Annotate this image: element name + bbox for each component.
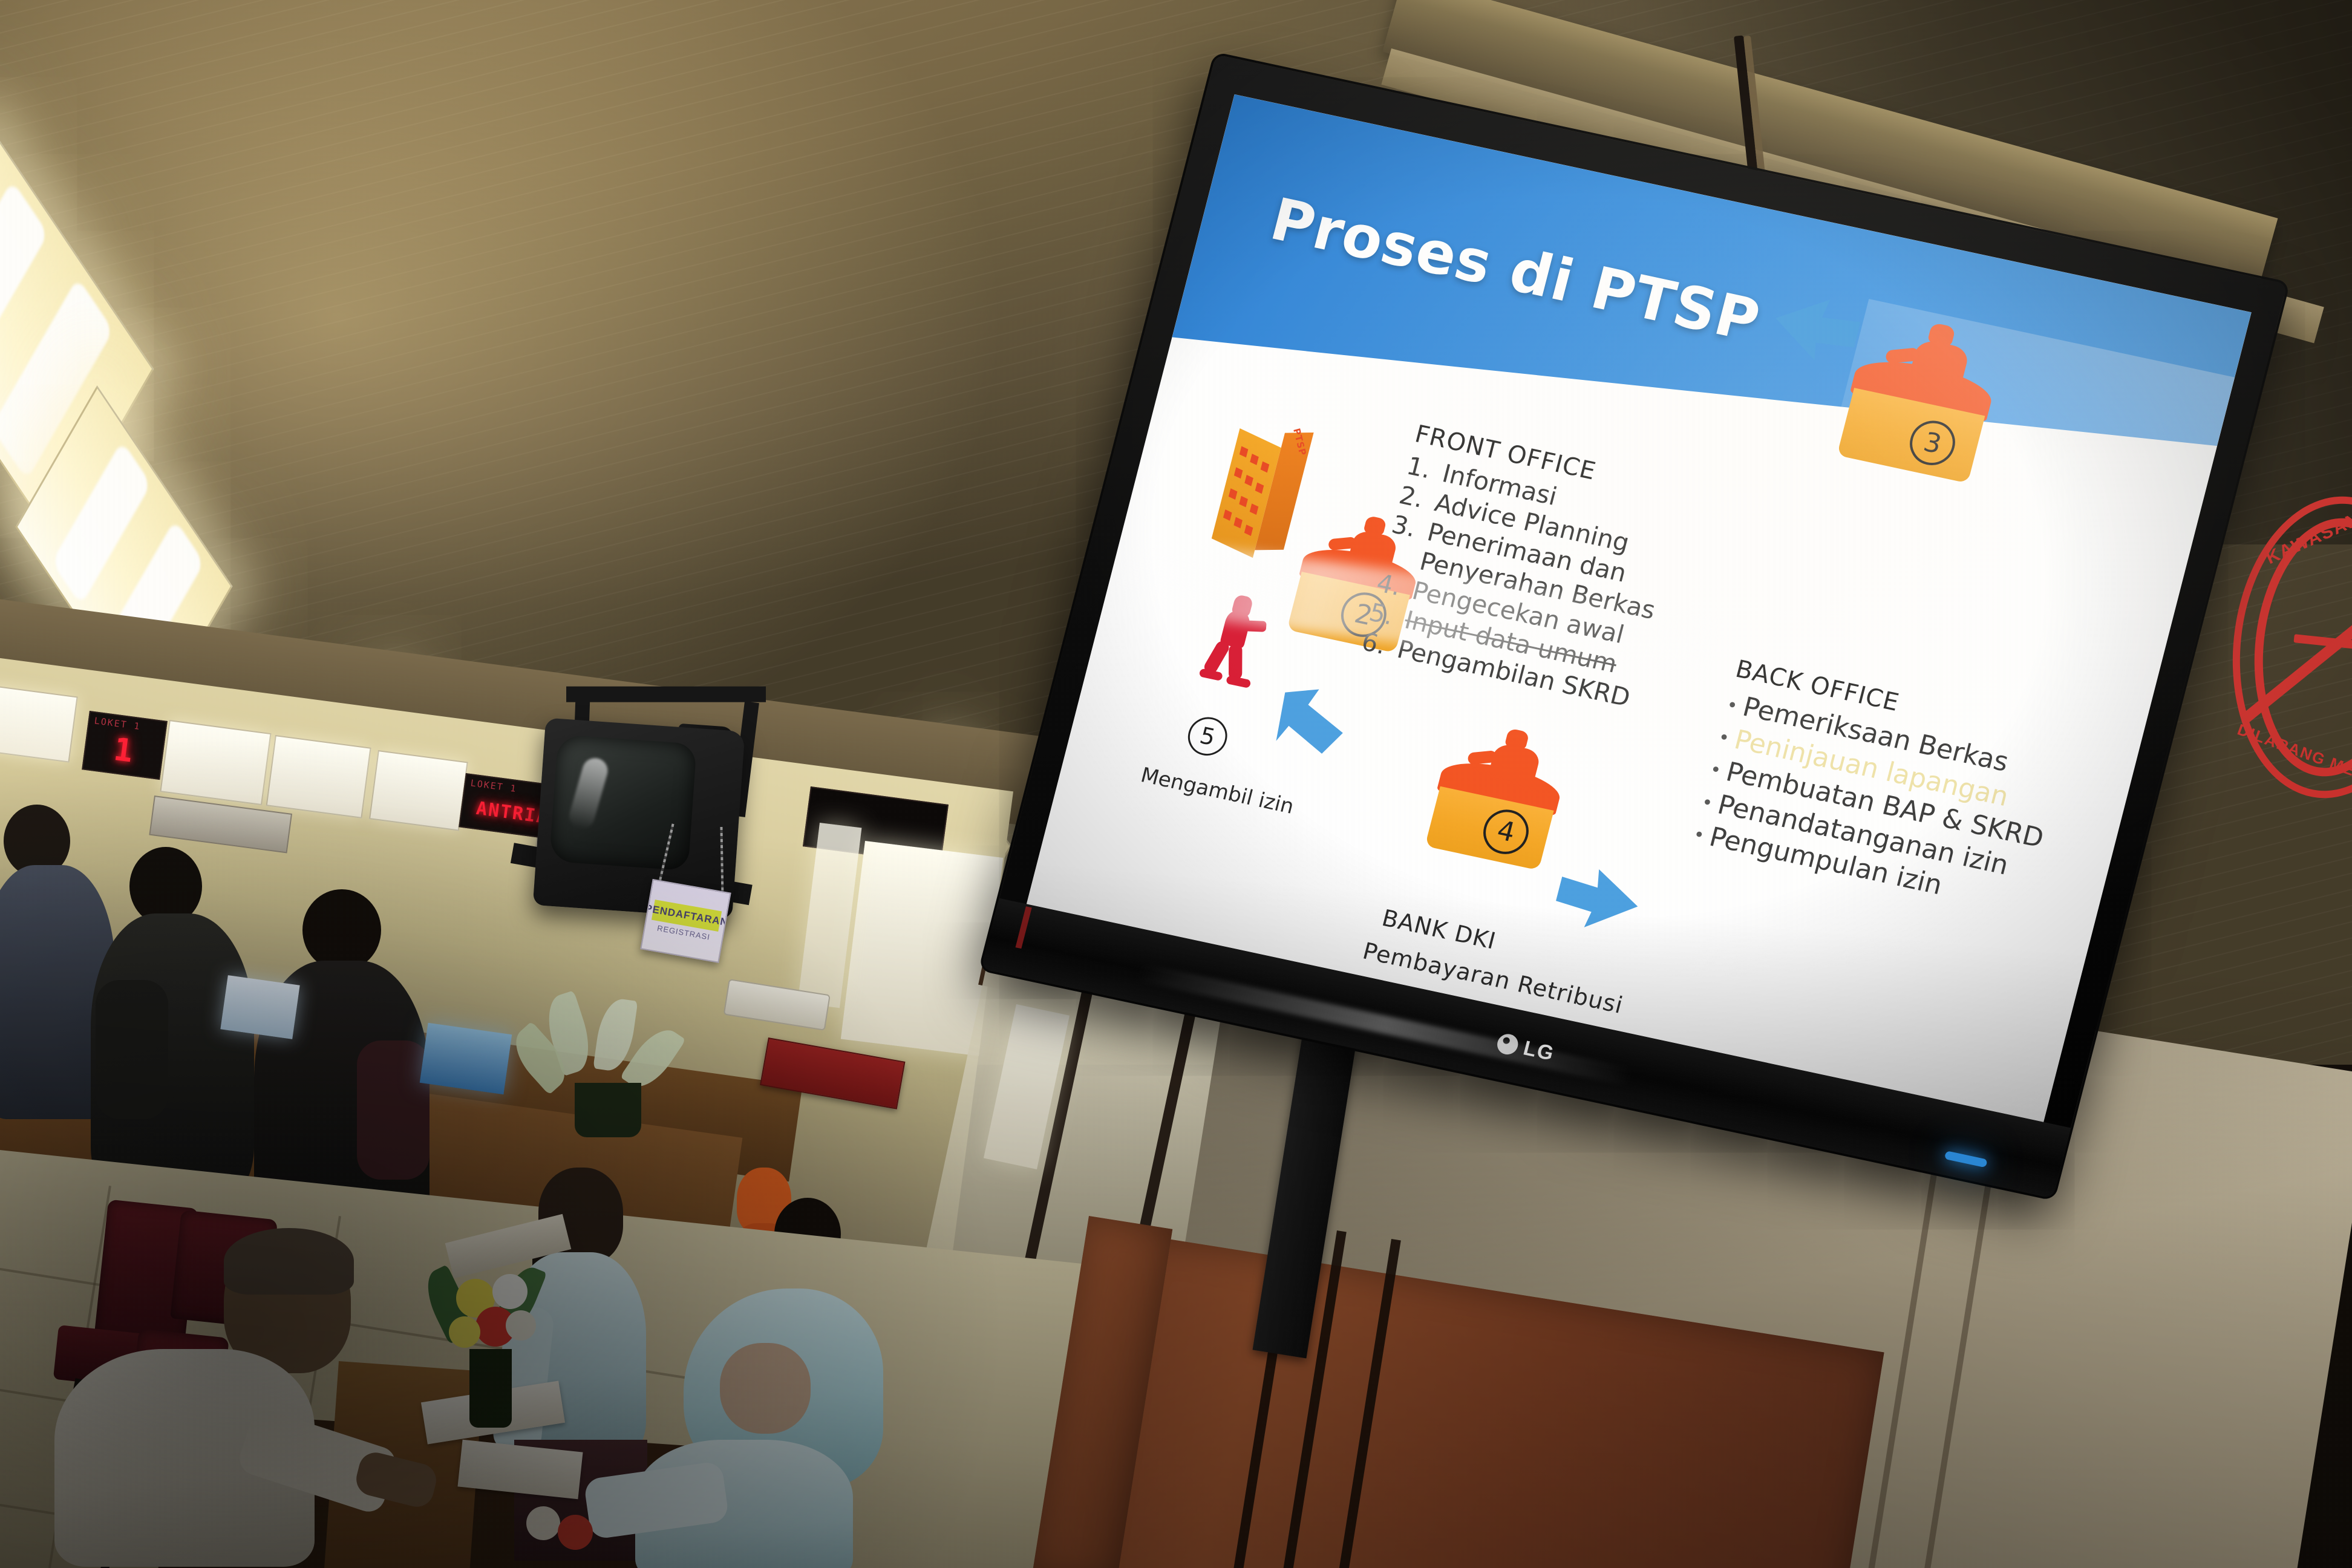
- counter-window: [266, 735, 371, 818]
- hanging-sign-pendaftaran: PENDAFTARAN REGISTRASI: [640, 879, 731, 963]
- counter-3-number: 3: [1905, 417, 1960, 469]
- crt-glare: [566, 755, 610, 832]
- queue-led-label-2: LOKET 1: [470, 777, 518, 794]
- bezel-reflection-red: [1015, 906, 1031, 949]
- arrow-left-icon: [1538, 855, 1649, 939]
- power-led-indicator: [1944, 1151, 1988, 1168]
- back-office-block: BACK OFFICE Pemeriksaan BerkasPeninjauan…: [1690, 655, 2166, 941]
- step-5-caption: Mengambil izin: [1138, 763, 1296, 819]
- ceiling-mounted-crt-tv: PENDAFTARAN REGISTRASI: [512, 692, 807, 965]
- crt-housing: [533, 717, 745, 918]
- step-5-badge: 5: [1184, 713, 1232, 759]
- front-office-item-number: 3.: [1389, 509, 1423, 544]
- counter-window: [160, 720, 271, 805]
- crt-screen: [549, 734, 697, 871]
- person-white-shirt: [42, 1234, 466, 1568]
- arrow-up-left-icon: [1262, 676, 1363, 765]
- walking-person-icon: [1197, 591, 1274, 691]
- queue-led-value-1: 1: [111, 731, 136, 770]
- counter-window: [369, 750, 468, 831]
- queue-led-display-1: LOKET 1 1: [82, 711, 168, 780]
- counter-icon-4: 4: [1422, 755, 1564, 871]
- ptsp-building-icon: PTSP: [1210, 420, 1313, 559]
- flower-bouquet-lower: [502, 1494, 623, 1568]
- front-office-block: FRONT OFFICE 1.Informasi2.Advice Plannin…: [1359, 420, 1765, 730]
- photo-scene: LOKET 1 1 LOKET 1 ANTRIAN: [0, 0, 2352, 1568]
- back-office-list: Pemeriksaan BerkasPeninjauan lapanganPem…: [1690, 687, 2158, 941]
- counter-window: [0, 685, 78, 763]
- counter-laptop-screen: [220, 975, 299, 1039]
- crt-bracket-top: [566, 687, 766, 702]
- queue-led-label-1: LOKET 1: [94, 715, 142, 732]
- counter-4-number: 4: [1478, 805, 1534, 858]
- flower-bouquet: [411, 1252, 569, 1434]
- counter-monitor-screen: [420, 1023, 512, 1095]
- decor-plant: [532, 992, 678, 1149]
